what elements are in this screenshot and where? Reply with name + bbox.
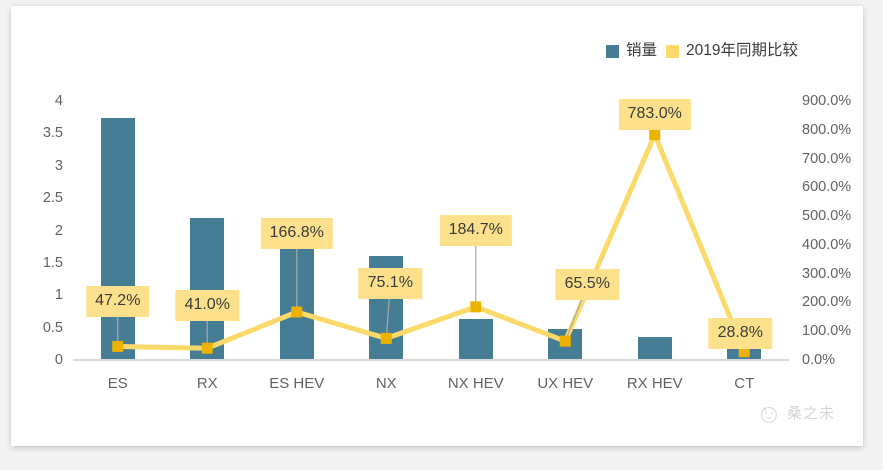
yoy-marker-nx-hev[interactable]: [470, 301, 481, 312]
left-y-tick: 0.5: [43, 320, 63, 335]
legend-item-sales[interactable]: 销量: [606, 43, 657, 59]
legend-item-yoy[interactable]: 2019年同期比较: [666, 43, 798, 59]
yoy-marker-rx-hev[interactable]: [649, 129, 660, 140]
left-y-tick: 2.5: [43, 191, 63, 206]
left-y-tick: 1.5: [43, 256, 63, 271]
x-tick-nx-hev: NX HEV: [448, 376, 504, 391]
yoy-marker-ux-hev[interactable]: [560, 336, 571, 347]
yoy-marker-es-hev[interactable]: [291, 306, 302, 317]
x-tick-nx: NX: [376, 376, 397, 391]
right-y-tick: 600.0%: [802, 180, 851, 195]
left-y-axis: 00.511.522.533.54: [11, 6, 63, 476]
x-tick-ct: CT: [734, 376, 754, 391]
data-label-nx-hev: 184.7%: [440, 215, 512, 246]
left-y-tick: 1: [55, 288, 63, 303]
legend-square-icon: [606, 45, 619, 58]
right-y-tick: 200.0%: [802, 295, 851, 310]
watermark-text: 桑之未: [787, 406, 835, 421]
data-label-es-hev: 166.8%: [261, 218, 333, 249]
x-tick-rx: RX: [197, 376, 218, 391]
data-label-nx: 75.1%: [359, 268, 422, 299]
plot-area: 47.2%41.0%166.8%75.1%184.7%65.5%783.0%28…: [73, 101, 789, 360]
x-tick-ux-hev: UX HEV: [537, 376, 593, 391]
right-y-tick: 800.0%: [802, 123, 851, 138]
x-tick-es-hev: ES HEV: [269, 376, 324, 391]
left-y-tick: 4: [55, 94, 63, 109]
right-y-tick: 900.0%: [802, 94, 851, 109]
left-y-tick: 3.5: [43, 126, 63, 141]
watermark: 桑之未: [758, 402, 835, 424]
data-label-es: 47.2%: [86, 286, 149, 317]
yoy-marker-es[interactable]: [112, 341, 123, 352]
legend-label-yoy: 2019年同期比较: [686, 43, 798, 59]
data-label-ct: 28.8%: [709, 318, 772, 349]
left-y-tick: 3: [55, 159, 63, 174]
right-y-tick: 700.0%: [802, 151, 851, 166]
left-y-tick: 0: [55, 353, 63, 368]
data-label-ux-hev: 65.5%: [556, 269, 619, 300]
x-tick-rx-hev: RX HEV: [627, 376, 683, 391]
right-y-tick: 300.0%: [802, 266, 851, 281]
data-label-rx: 41.0%: [176, 290, 239, 321]
x-axis-line: [73, 359, 789, 361]
right-y-tick: 100.0%: [802, 324, 851, 339]
right-y-tick: 400.0%: [802, 238, 851, 253]
chart-legend: 销量 2019年同期比较: [606, 40, 798, 62]
chart-card: 销量 2019年同期比较 00.511.522.533.54 0.0%100.0…: [11, 6, 863, 446]
yoy-marker-nx[interactable]: [381, 333, 392, 344]
legend-square-icon: [666, 45, 679, 58]
legend-label-sales: 销量: [626, 43, 657, 59]
screenshot-root: 销量 2019年同期比较 00.511.522.533.54 0.0%100.0…: [0, 0, 883, 470]
right-y-tick: 0.0%: [802, 353, 835, 368]
x-tick-es: ES: [108, 376, 128, 391]
yoy-marker-rx[interactable]: [202, 343, 213, 354]
left-y-tick: 2: [55, 223, 63, 238]
data-label-rx-hev: 783.0%: [619, 99, 691, 130]
right-y-tick: 500.0%: [802, 209, 851, 224]
x-axis-categories: ESRXES HEVNXNX HEVUX HEVRX HEVCT: [73, 376, 789, 400]
chick-avatar-icon: [758, 402, 780, 424]
